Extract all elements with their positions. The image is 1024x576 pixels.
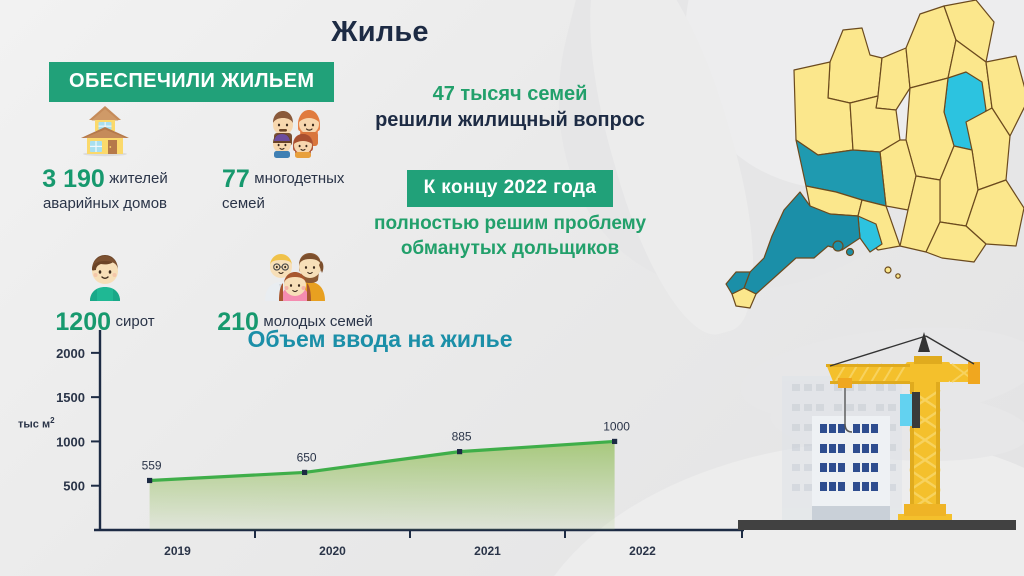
chart-canvas: 5001000150020002019202020212022559650885… — [0, 318, 760, 576]
chart-x-tick-label: 2020 — [319, 544, 346, 558]
chart-data-point — [147, 478, 152, 483]
page-title: Жилье — [0, 16, 760, 49]
map-island-4 — [885, 267, 891, 273]
map-region-north-1 — [828, 28, 882, 103]
large-family-icon — [200, 96, 390, 158]
chart-y-tick-label: 500 — [63, 479, 85, 494]
housing-volume-chart: Объем ввода на жилье тыс м2 500100015002… — [0, 318, 760, 576]
construction-illustration — [734, 318, 1024, 568]
chart-area-fill — [150, 441, 615, 530]
map-island-2 — [833, 241, 843, 251]
deadline-badge: К концу 2022 года — [407, 170, 614, 207]
chart-y-tick-label: 1000 — [56, 434, 85, 449]
stat-item-residents: 3 190 жителей аварийных домов — [10, 96, 200, 213]
chart-data-point — [457, 449, 462, 454]
chart-x-tick-label: 2021 — [474, 544, 501, 558]
chart-data-point — [302, 470, 307, 475]
chart-y-tick-label: 1500 — [56, 390, 85, 405]
map-island-3 — [847, 249, 854, 256]
chart-y-axis-unit: тыс м2 — [18, 416, 55, 431]
ground-bar — [738, 520, 1016, 530]
orphan-boy-icon — [10, 239, 200, 301]
chart-point-label: 650 — [297, 450, 317, 464]
promise-text: полностью решим проблему обманутых дольщ… — [290, 212, 730, 261]
stat-text-residents: 3 190 жителей аварийных домов — [10, 164, 200, 213]
promise-badge-wrap: К концу 2022 года — [300, 170, 720, 207]
chart-x-tick-label: 2022 — [629, 544, 656, 558]
chart-x-tick-label: 2019 — [164, 544, 191, 558]
primorsky-krai-map — [710, 0, 1024, 316]
stat-number-large-families: 77 — [222, 165, 250, 193]
chart-point-label: 1000 — [603, 419, 630, 433]
promise-line-1: полностью решим проблему — [290, 212, 730, 237]
chart-title: Объем ввода на жилье — [0, 326, 760, 353]
house-icon — [10, 96, 200, 158]
chart-point-label: 885 — [452, 430, 472, 444]
infographic-slide: Жилье 47 тысяч семей решили жилищный воп… — [0, 0, 1024, 576]
chart-data-point — [612, 439, 617, 444]
stat-number-residents: 3 190 — [42, 165, 105, 193]
map-island-5 — [896, 274, 900, 278]
promise-line-2: обманутых дольщиков — [290, 237, 730, 262]
chart-point-label: 559 — [142, 458, 162, 472]
